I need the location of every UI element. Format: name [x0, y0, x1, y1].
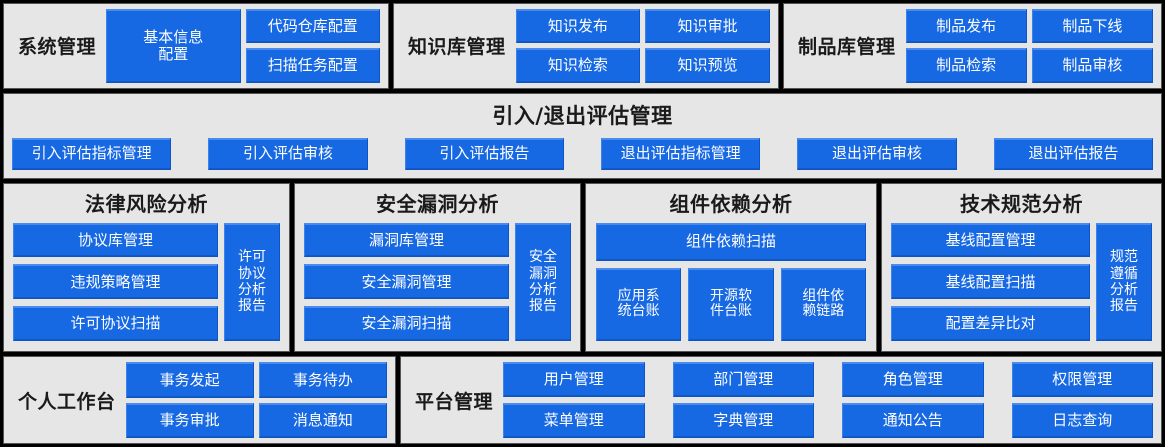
panel-title-platform-management: 平台管理: [401, 387, 503, 414]
button-task-approval[interactable]: 事务审批: [126, 403, 254, 438]
button-artifact-publish[interactable]: 制品发布: [906, 9, 1027, 43]
button-license-analysis-report[interactable]: 许可 协议 分析 报告: [224, 223, 280, 342]
panel-component-dependency-analysis: 组件依赖分析 组件依赖扫描 应用系 统台账 开源软 件台账 组件依 赖链路: [585, 183, 877, 353]
button-license-library-management[interactable]: 协议库管理: [13, 223, 218, 258]
button-intro-eval-review[interactable]: 引入评估审核: [208, 138, 367, 170]
platform-management-buttons: 用户管理 部门管理 角色管理 权限管理 菜单管理 字典管理 通知公告 日志查询: [503, 362, 1153, 438]
button-artifact-offline[interactable]: 制品下线: [1032, 9, 1153, 43]
panel-title-component-dependency-analysis: 组件依赖分析: [586, 184, 876, 223]
panel-system-management: 系统管理 基本信息 配置 代码仓库配置 扫描任务配置: [3, 3, 389, 89]
artifact-repository-buttons: 制品发布 制品下线 制品检索 制品审核: [906, 9, 1153, 83]
panel-title-technical-specification-analysis: 技术规范分析: [882, 184, 1161, 223]
panel-technical-specification-analysis: 技术规范分析 基线配置管理 基线配置扫描 配置差异比对 规范 遵循 分析 报告: [881, 183, 1162, 353]
legal-risk-body: 协议库管理 违规策略管理 许可协议扫描 许可 协议 分析 报告: [4, 223, 289, 352]
button-message-notification[interactable]: 消息通知: [259, 403, 387, 438]
panel-personal-workbench: 个人工作台 事务发起 事务待办 事务审批 消息通知: [3, 356, 396, 444]
button-knowledge-search[interactable]: 知识检索: [516, 48, 641, 82]
button-application-system-ledger[interactable]: 应用系 统台账: [596, 268, 681, 342]
button-task-initiate[interactable]: 事务发起: [126, 362, 254, 397]
button-intro-eval-report[interactable]: 引入评估报告: [405, 138, 564, 170]
button-security-vulnerability-report[interactable]: 安全 漏洞 分析 报告: [515, 223, 571, 342]
security-vulnerability-body: 漏洞库管理 安全漏洞管理 安全漏洞扫描 安全 漏洞 分析 报告: [295, 223, 580, 352]
knowledge-base-buttons: 知识发布 知识审批 知识检索 知识预览: [516, 9, 770, 83]
button-task-todo[interactable]: 事务待办: [259, 362, 387, 397]
panel-title-legal-risk-analysis: 法律风险分析: [4, 184, 289, 223]
technical-specification-body: 基线配置管理 基线配置扫描 配置差异比对 规范 遵循 分析 报告: [882, 223, 1161, 352]
button-basic-info-config[interactable]: 基本信息 配置: [106, 9, 240, 83]
button-license-agreement-scan[interactable]: 许可协议扫描: [13, 306, 218, 341]
button-knowledge-publish[interactable]: 知识发布: [516, 9, 641, 43]
button-knowledge-preview[interactable]: 知识预览: [645, 48, 770, 82]
row-evaluation: 引入/退出评估管理 引入评估指标管理 引入评估审核 引入评估报告 退出评估指标管…: [3, 93, 1162, 179]
panel-title-system-management: 系统管理: [4, 32, 106, 59]
legal-risk-buttons: 协议库管理 违规策略管理 许可协议扫描: [13, 223, 218, 342]
button-user-management[interactable]: 用户管理: [503, 362, 644, 397]
button-vulnerability-library-management[interactable]: 漏洞库管理: [304, 223, 509, 258]
panel-intro-exit-evaluation: 引入/退出评估管理 引入评估指标管理 引入评估审核 引入评估报告 退出评估指标管…: [3, 93, 1162, 179]
panel-title-artifact-repository-management: 制品库管理: [784, 32, 906, 59]
row-management: 系统管理 基本信息 配置 代码仓库配置 扫描任务配置 知识库管理 知识发布 知识…: [3, 3, 1162, 89]
panel-title-knowledge-base-management: 知识库管理: [394, 32, 516, 59]
button-component-dependency-chain[interactable]: 组件依 赖链路: [781, 268, 866, 342]
component-dependency-body: 组件依赖扫描 应用系 统台账 开源软 件台账 组件依 赖链路: [586, 223, 876, 352]
button-notice-announcement[interactable]: 通知公告: [842, 403, 984, 438]
panel-title-intro-exit-evaluation: 引入/退出评估管理: [12, 94, 1153, 138]
component-dependency-sub-buttons: 应用系 统台账 开源软 件台账 组件依 赖链路: [596, 268, 866, 342]
button-department-management[interactable]: 部门管理: [673, 362, 815, 397]
button-security-vulnerability-management[interactable]: 安全漏洞管理: [304, 264, 509, 299]
button-component-dependency-scan[interactable]: 组件依赖扫描: [596, 223, 866, 261]
system-management-buttons: 基本信息 配置 代码仓库配置 扫描任务配置: [106, 9, 380, 83]
technical-specification-buttons: 基线配置管理 基线配置扫描 配置差异比对: [891, 223, 1090, 342]
button-config-difference-comparison[interactable]: 配置差异比对: [891, 306, 1090, 341]
architecture-board: 系统管理 基本信息 配置 代码仓库配置 扫描任务配置 知识库管理 知识发布 知识…: [0, 0, 1165, 447]
panel-knowledge-base-management: 知识库管理 知识发布 知识审批 知识检索 知识预览: [393, 3, 779, 89]
panel-artifact-repository-management: 制品库管理 制品发布 制品下线 制品检索 制品审核: [783, 3, 1162, 89]
panel-platform-management: 平台管理 用户管理 部门管理 角色管理 权限管理 菜单管理 字典管理 通知公告 …: [400, 356, 1162, 444]
button-exit-eval-report[interactable]: 退出评估报告: [994, 138, 1153, 170]
evaluation-buttons: 引入评估指标管理 引入评估审核 引入评估报告 退出评估指标管理 退出评估审核 退…: [12, 138, 1153, 170]
button-permission-management[interactable]: 权限管理: [1012, 362, 1154, 397]
panel-legal-risk-analysis: 法律风险分析 协议库管理 违规策略管理 许可协议扫描 许可 协议 分析 报告: [3, 183, 290, 353]
button-violation-policy-management[interactable]: 违规策略管理: [13, 264, 218, 299]
button-open-source-software-ledger[interactable]: 开源软 件台账: [688, 268, 773, 342]
panel-security-vulnerability-analysis: 安全漏洞分析 漏洞库管理 安全漏洞管理 安全漏洞扫描 安全 漏洞 分析 报告: [294, 183, 581, 353]
security-vulnerability-buttons: 漏洞库管理 安全漏洞管理 安全漏洞扫描: [304, 223, 509, 342]
button-code-repo-config[interactable]: 代码仓库配置: [246, 9, 381, 43]
button-dictionary-management[interactable]: 字典管理: [673, 403, 815, 438]
panel-title-security-vulnerability-analysis: 安全漏洞分析: [295, 184, 580, 223]
button-role-management[interactable]: 角色管理: [842, 362, 984, 397]
panel-title-personal-workbench: 个人工作台: [4, 387, 126, 414]
personal-workbench-buttons: 事务发起 事务待办 事务审批 消息通知: [126, 362, 387, 438]
button-specification-compliance-report[interactable]: 规范 遵循 分析 报告: [1096, 223, 1152, 342]
button-baseline-config-management[interactable]: 基线配置管理: [891, 223, 1090, 258]
button-artifact-search[interactable]: 制品检索: [906, 48, 1027, 82]
row-workbench-platform: 个人工作台 事务发起 事务待办 事务审批 消息通知 平台管理 用户管理 部门管理…: [3, 356, 1162, 444]
button-security-vulnerability-scan[interactable]: 安全漏洞扫描: [304, 306, 509, 341]
button-menu-management[interactable]: 菜单管理: [503, 403, 644, 438]
button-intro-eval-indicator-management[interactable]: 引入评估指标管理: [12, 138, 171, 170]
button-baseline-config-scan[interactable]: 基线配置扫描: [891, 264, 1090, 299]
button-scan-task-config[interactable]: 扫描任务配置: [246, 48, 381, 82]
button-exit-eval-review[interactable]: 退出评估审核: [797, 138, 956, 170]
row-analysis: 法律风险分析 协议库管理 违规策略管理 许可协议扫描 许可 协议 分析 报告 安…: [3, 183, 1162, 353]
button-exit-eval-indicator-management[interactable]: 退出评估指标管理: [601, 138, 760, 170]
button-artifact-audit[interactable]: 制品审核: [1032, 48, 1153, 82]
button-knowledge-approval[interactable]: 知识审批: [645, 9, 770, 43]
button-log-query[interactable]: 日志查询: [1012, 403, 1154, 438]
